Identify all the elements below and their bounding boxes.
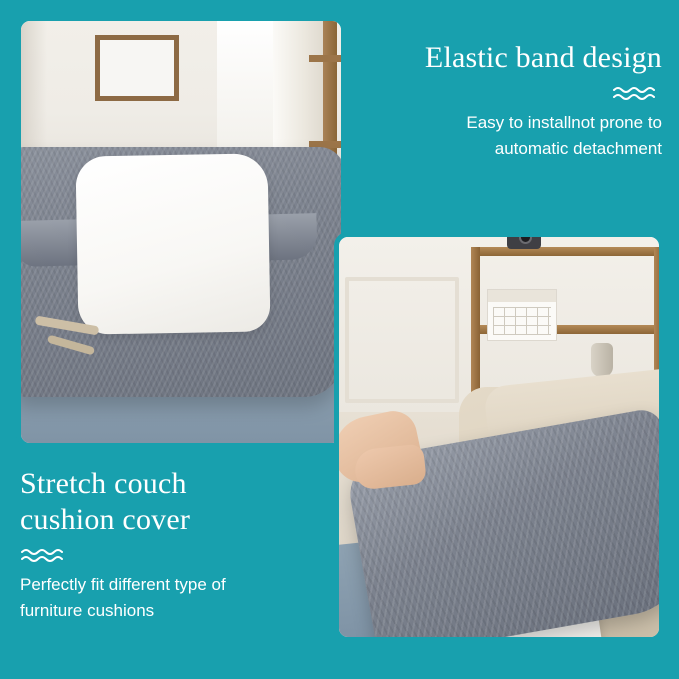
headline-stretch-couch-line-2: cushion cover (20, 502, 320, 538)
hands-pulling-cover-photo (334, 232, 664, 642)
wave-divider-icon (20, 548, 320, 564)
camera-decor (507, 232, 541, 249)
shelf-board-top (471, 247, 663, 256)
calendar-grid (493, 307, 551, 335)
camera-lens-icon (519, 232, 532, 244)
wall-molding (345, 277, 459, 403)
subtext-line-1: Perfectly fit different type of (20, 572, 320, 598)
calendar-header (488, 290, 556, 302)
picture-frame (95, 35, 179, 101)
sofa-with-white-cushion-photo (16, 16, 346, 448)
bottom-left-text-block: Stretch couch cushion cover Perfectly fi… (20, 466, 320, 624)
headline-elastic-band-design: Elastic band design (366, 40, 662, 76)
wave-divider-icon (366, 86, 662, 102)
white-foam-cushion (75, 153, 270, 334)
headline-stretch-couch-line-1: Stretch couch (20, 466, 320, 502)
top-right-text-block: Elastic band design Easy to installnot p… (366, 40, 662, 162)
subtext-line-2: furniture cushions (20, 598, 320, 624)
subtext-line-2: automatic detachment (366, 136, 662, 162)
subtext-line-1: Easy to installnot prone to (366, 110, 662, 136)
vase-decor (591, 343, 613, 377)
promo-image: Elastic band design Easy to installnot p… (0, 0, 679, 679)
shelf-board-upper (309, 55, 345, 62)
shelf-post-left (471, 247, 480, 407)
calendar-decor (487, 289, 557, 341)
